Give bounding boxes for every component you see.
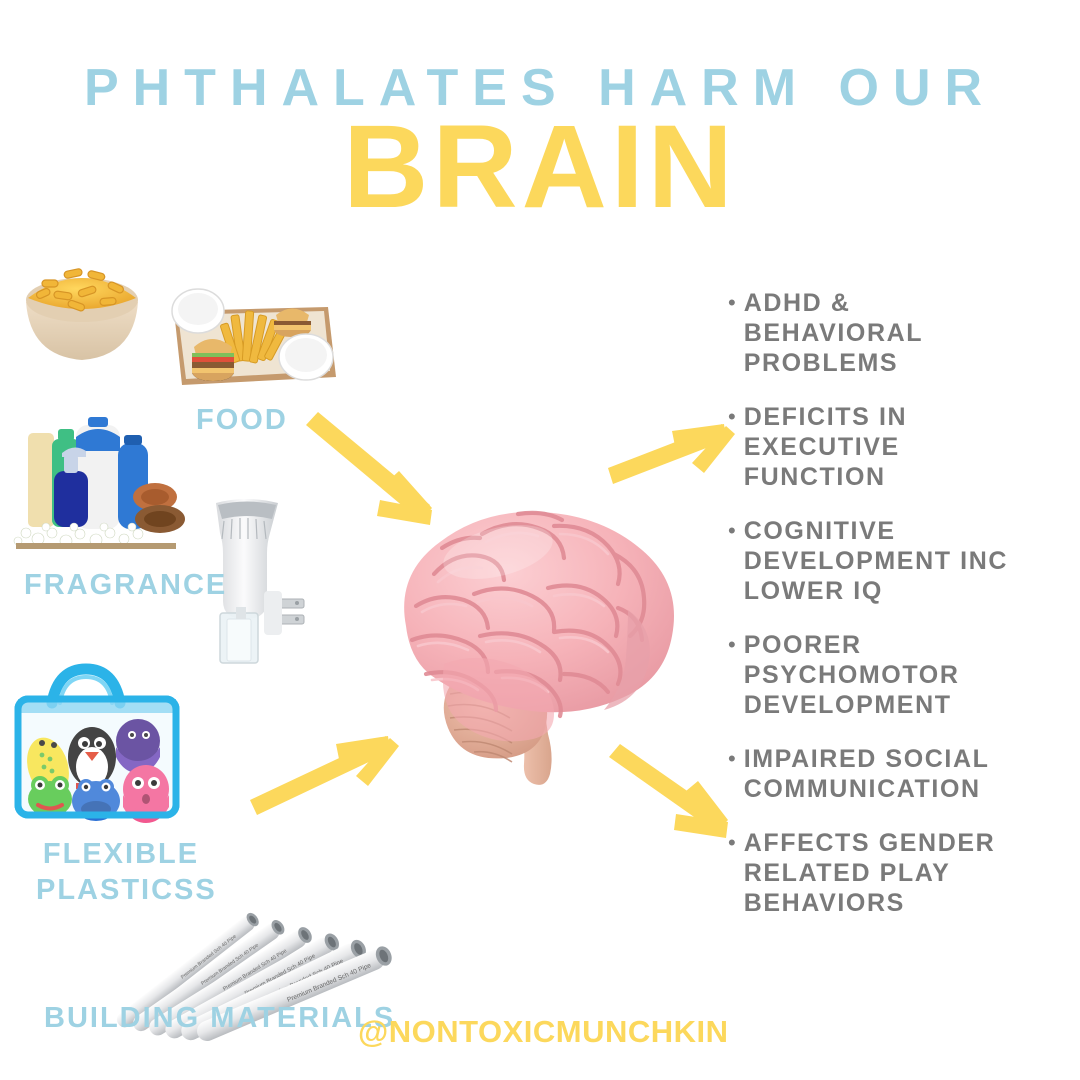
mac-and-cheese-photo (12, 240, 152, 370)
effect-item-psychomotor: • POORER PSYCHOMOTOR DEVELOPMENT (728, 630, 1076, 720)
effect-text: COGNITIVE DEVELOPMENT INC LOWER IQ (744, 516, 1008, 606)
arrow-plastics-to-brain (250, 736, 399, 815)
page-title-line-2: BRAIN (0, 108, 1080, 226)
social-handle: @NONTOXICMUNCHKIN (358, 1014, 729, 1050)
bullet-dot-icon: • (728, 828, 736, 858)
pvc-pipes-photo: Premium Branded Sch 40 Pipe Premium Bran… (182, 832, 397, 987)
infographic-canvas: PHTHALATES HARM OUR BRAIN (0, 0, 1080, 1080)
effect-item-social-communication: • IMPAIRED SOCIAL COMMUNICATION (728, 744, 1076, 804)
effect-item-executive-function: • DEFICITS IN EXECUTIVE FUNCTION (728, 402, 1076, 492)
bullet-dot-icon: • (728, 630, 736, 660)
source-label-food: FOOD (196, 402, 288, 438)
effect-item-adhd: • ADHD & BEHAVIORAL PROBLEMS (728, 288, 1076, 378)
effect-text: IMPAIRED SOCIAL COMMUNICATION (744, 744, 990, 804)
arrow-brain-to-upper-effects (608, 424, 735, 484)
effect-item-cognitive-development: • COGNITIVE DEVELOPMENT INC LOWER IQ (728, 516, 1076, 606)
effect-text: POORER PSYCHOMOTOR DEVELOPMENT (744, 630, 960, 720)
effect-text: DEFICITS IN EXECUTIVE FUNCTION (744, 402, 907, 492)
bath-toys-bag-photo (8, 655, 188, 830)
bullet-dot-icon: • (728, 288, 736, 318)
effects-list: • ADHD & BEHAVIORAL PROBLEMS • DEFICITS … (728, 288, 1076, 942)
source-label-building-materials: BUILDING MATERIALS (44, 1000, 395, 1036)
bullet-dot-icon: • (728, 744, 736, 774)
effect-item-gender-play-behaviors: • AFFECTS GENDER RELATED PLAY BEHAVIORS (728, 828, 1076, 918)
burger-and-fries-photo (160, 285, 345, 395)
source-label-flexible-plastics: FLEXIBLE PLASTICSS (36, 836, 206, 909)
source-label-fragrance: FRAGRANCE (24, 567, 227, 603)
bullet-dot-icon: • (728, 516, 736, 546)
toiletries-photo (10, 415, 185, 555)
effect-text: AFFECTS GENDER RELATED PLAY BEHAVIORS (744, 828, 996, 918)
effect-text: ADHD & BEHAVIORAL PROBLEMS (744, 288, 923, 378)
human-brain-photo (378, 478, 708, 808)
bullet-dot-icon: • (728, 402, 736, 432)
